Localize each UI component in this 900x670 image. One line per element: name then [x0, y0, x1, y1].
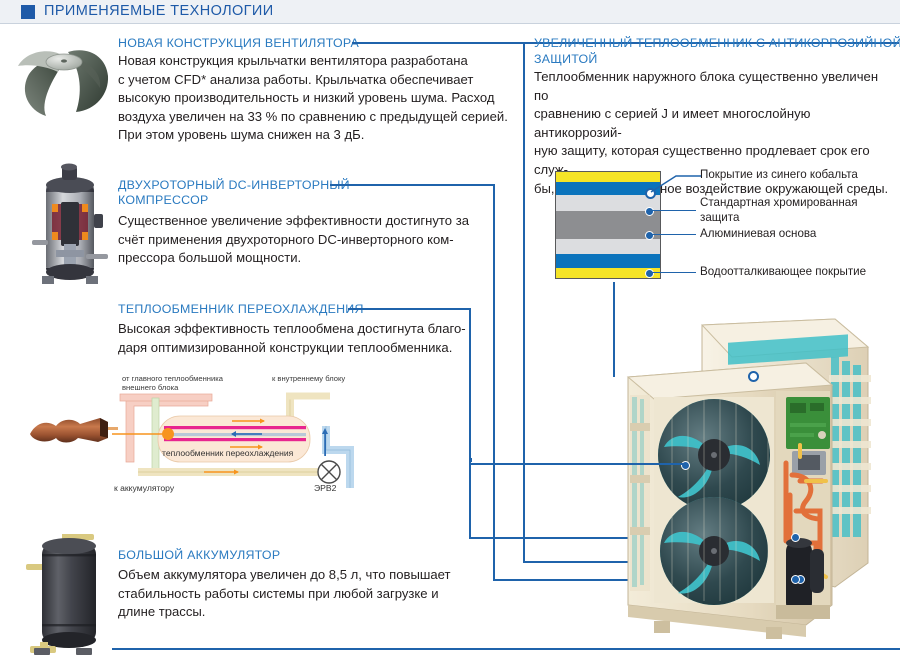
callout-dot-water-repellent — [645, 269, 654, 278]
section-text-subcool: Высокая эффективность теплообмена достиг… — [118, 320, 518, 357]
connector-fan-to-unit — [470, 463, 685, 465]
callout-line-water-repellent — [652, 272, 696, 273]
section-text-compressor: Существенное увеличение эффективности до… — [118, 212, 518, 268]
technology-page: ПРИМЕНЯЕМЫЕ ТЕХНОЛОГИИ — [0, 0, 900, 669]
schematic-label-to-accumulator: к аккумулятору — [114, 484, 174, 493]
header-divider — [0, 23, 900, 24]
layer-blue-cobalt-coating-top — [556, 172, 660, 182]
outdoor-unit-cutaway-illustration — [610, 305, 900, 665]
copper-pipe-illustration — [22, 406, 118, 454]
section-title-anticorrosion: УВЕЛИЧЕННЫЙ ТЕПЛООБМЕННИК С АНТИКОРРОЗИЙ… — [534, 36, 900, 67]
schematic-label-to-indoor-unit: к внутреннему блоку — [272, 374, 345, 383]
fan-blade-illustration — [12, 32, 116, 124]
section-text-accumulator: Объем аккумулятора увеличен до 8,5 л, чт… — [118, 566, 518, 622]
connector-compressor-h1 — [330, 184, 494, 186]
schematic-label-erv2: ЭРВ2 — [314, 484, 336, 493]
hotspot-heat-exchanger[interactable] — [748, 371, 759, 382]
header-square-icon — [21, 5, 35, 19]
callout-label-aluminium: Алюминиевая основа — [700, 227, 816, 242]
anticorrosion-coating-stack — [555, 171, 661, 279]
callout-dot-aluminium — [645, 231, 654, 240]
section-text-fan: Новая конструкция крыльчатки вентилятора… — [118, 52, 518, 145]
section-title-compressor: ДВУХРОТОРНЫЙ DC-ИНВЕРТОРНЫЙ КОМПРЕССОР — [118, 178, 350, 208]
compressor-cutaway-illustration — [28, 162, 112, 290]
hotspot-subcool-hx[interactable] — [791, 533, 800, 542]
layer-blue-bottom — [556, 254, 660, 269]
callout-line-blue-cobalt — [650, 174, 702, 196]
layer-chrome-bottom — [556, 239, 660, 254]
schematic-label-from-main-hx: от главного теплообменника внешнего блок… — [122, 374, 223, 393]
section-title-accumulator: БОЛЬШОЙ АККУМУЛЯТОР — [118, 548, 280, 563]
callout-line-chrome — [652, 210, 696, 211]
section-title-fan: НОВАЯ КОНСТРУКЦИЯ ВЕНТИЛЯТОРА — [118, 36, 359, 51]
page-title: ПРИМЕНЯЕМЫЕ ТЕХНОЛОГИИ — [44, 3, 274, 19]
callout-label-chrome: Стандартная хромированная защита — [700, 196, 858, 225]
connector-fan-stub — [470, 458, 472, 462]
callout-label-water-repellent: Водоотталкивающее покрытие — [700, 265, 866, 280]
connector-anticorrosion-v — [523, 42, 525, 562]
page-header: ПРИМЕНЯЕМЫЕ ТЕХНОЛОГИИ — [0, 0, 900, 24]
callout-line-aluminium — [652, 234, 696, 235]
callout-dot-chrome — [645, 207, 654, 216]
subcooling-heat-exchanger-schematic: от главного теплообменника внешнего блок… — [112, 376, 382, 502]
hotspot-accumulator[interactable] — [791, 575, 800, 584]
connector-subcool-h1 — [348, 308, 470, 310]
section-title-subcool: ТЕПЛООБМЕННИК ПЕРЕОХЛАЖДЕНИЯ — [118, 302, 364, 317]
schematic-label-center: теплообменник переохлаждения — [162, 449, 293, 458]
accumulator-tank-illustration — [22, 528, 126, 656]
callout-label-blue-cobalt: Покрытие из синего кобальта — [700, 168, 858, 183]
